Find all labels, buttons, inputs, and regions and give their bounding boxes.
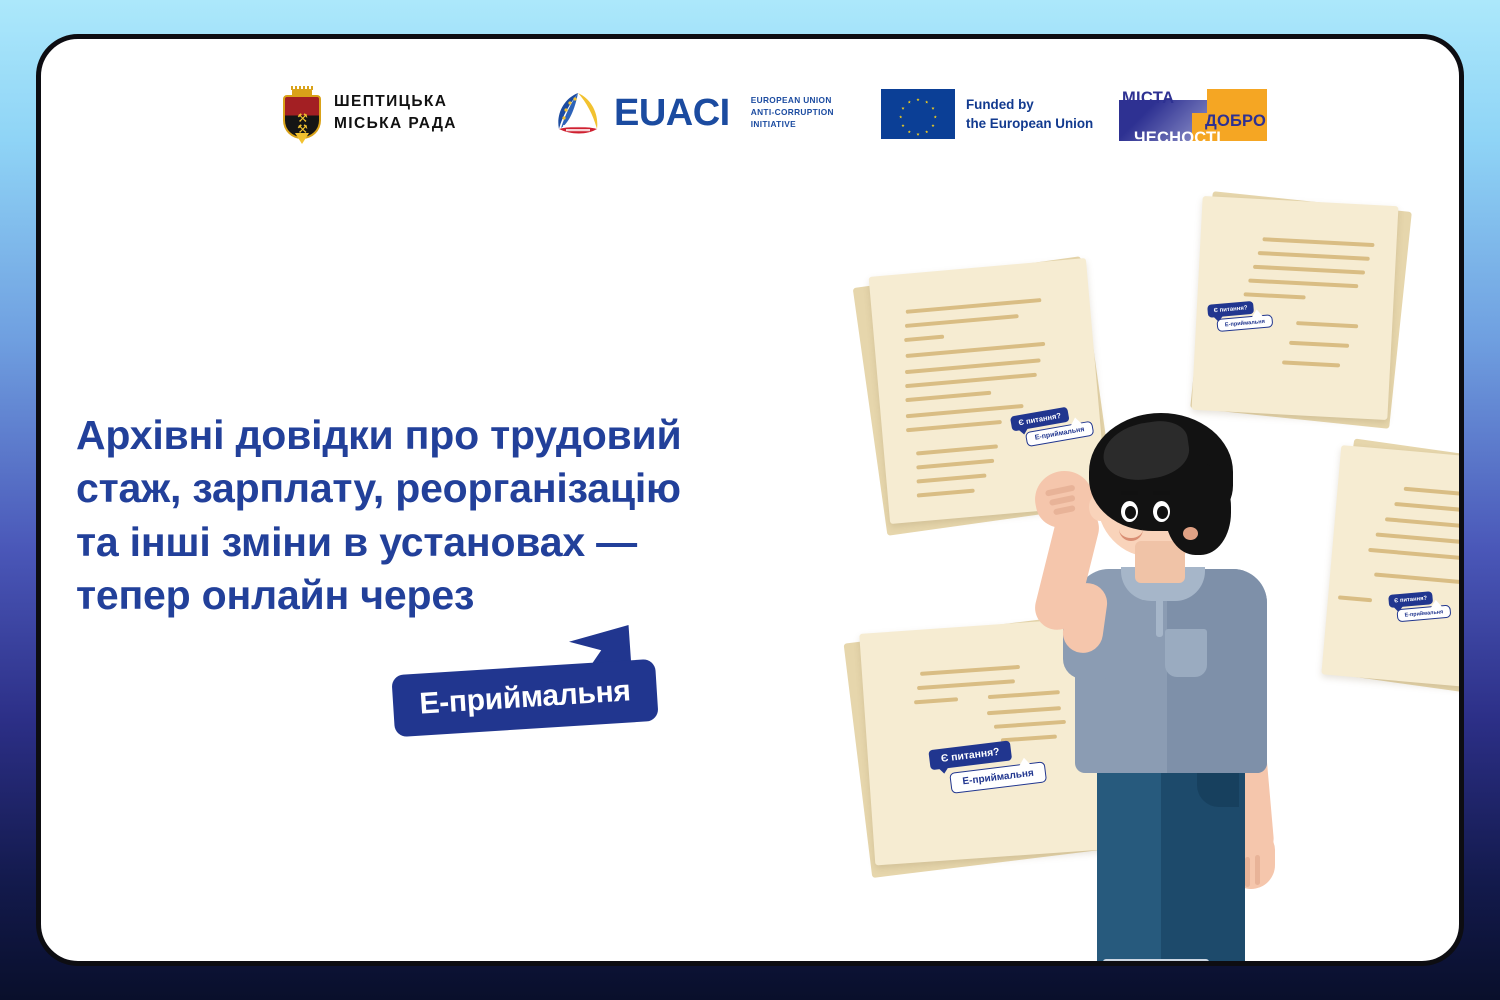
sticker-answer-text: Е-приймальня <box>1225 318 1265 327</box>
sticker-question-bubble: Є питання? <box>1207 301 1254 318</box>
character-hair-side <box>1165 463 1231 555</box>
euaci-swirl-icon <box>553 89 603 137</box>
character-cheek <box>1183 527 1198 540</box>
character-pants-pocket <box>1197 767 1239 807</box>
sticker-answer-bubble: Е-приймальня <box>949 761 1047 794</box>
logo-sheptytska-city-council: ⚒ ⚒ ШЕПТИЦЬКА МІСЬКА РАДА <box>281 87 457 139</box>
character-eye-left <box>1121 501 1138 522</box>
character-placket <box>1156 583 1163 637</box>
sticker-question-text: Є питання? <box>940 746 1000 764</box>
e-pryimalnya-badge[interactable]: Е-приймальня <box>381 625 661 735</box>
poster-card: ⚒ ⚒ ШЕПТИЦЬКА МІСЬКА РАДА <box>36 34 1464 966</box>
character-illustration <box>1037 411 1287 964</box>
sticker-answer-bubble: Е-приймальня <box>1396 605 1451 623</box>
character-shirt-pocket <box>1165 629 1207 677</box>
sticker-answer-text: Е-приймальня <box>1404 609 1443 618</box>
sticker-answer-bubble: Е-приймальня <box>1216 314 1273 332</box>
badge-box[interactable]: Е-приймальня <box>391 659 658 737</box>
headline-line-1: Архівні довідки про трудовий <box>76 409 816 462</box>
euaci-wordmark: EUACI <box>614 94 730 132</box>
page-title: Архівні довідки про трудовий стаж, зарпл… <box>76 409 816 622</box>
illustration: Є питання? Е-приймальня <box>801 39 1464 964</box>
character-sock <box>1103 959 1209 966</box>
badge-label: Е-приймальня <box>418 674 631 721</box>
sticker-bottom-left: Є питання? Е-приймальня <box>928 737 1043 798</box>
document-top-right: Є питання? Е-приймальня <box>1201 201 1401 419</box>
character-eye-right <box>1153 501 1170 522</box>
sticker-top-right: Є питання? Е-приймальня <box>1207 299 1272 336</box>
sticker-question-text: Є питання? <box>1394 595 1427 604</box>
sticker-answer-text: Е-приймальня <box>962 768 1034 788</box>
sticker-question-bubble: Є питання? <box>1388 591 1433 608</box>
sheptytska-line2: МІСЬКА РАДА <box>334 113 457 135</box>
logo-euaci: EUACI EUROPEAN UNION ANTI-CORRUPTION INI… <box>553 89 834 137</box>
sheptytska-label: ШЕПТИЦЬКА МІСЬКА РАДА <box>334 91 457 135</box>
headline-line-2: стаж, зарплату, реорганізацію <box>76 462 816 515</box>
sheptytska-line1: ШЕПТИЦЬКА <box>334 91 457 113</box>
sticker-right: Є питання? Е-приймальня <box>1388 590 1449 627</box>
character-pants-highlight <box>1097 761 1161 966</box>
character-brow-right <box>1153 491 1170 495</box>
headline-line-3: та інші зміни в установах — <box>76 516 816 569</box>
document-right: Є питання? Е-приймальня <box>1337 451 1464 687</box>
sticker-question-text: Є питання? <box>1213 305 1247 314</box>
coat-of-arms-icon: ⚒ ⚒ <box>281 87 323 139</box>
headline-line-4: тепер онлайн через <box>76 569 816 622</box>
character-brow-left <box>1121 491 1138 495</box>
